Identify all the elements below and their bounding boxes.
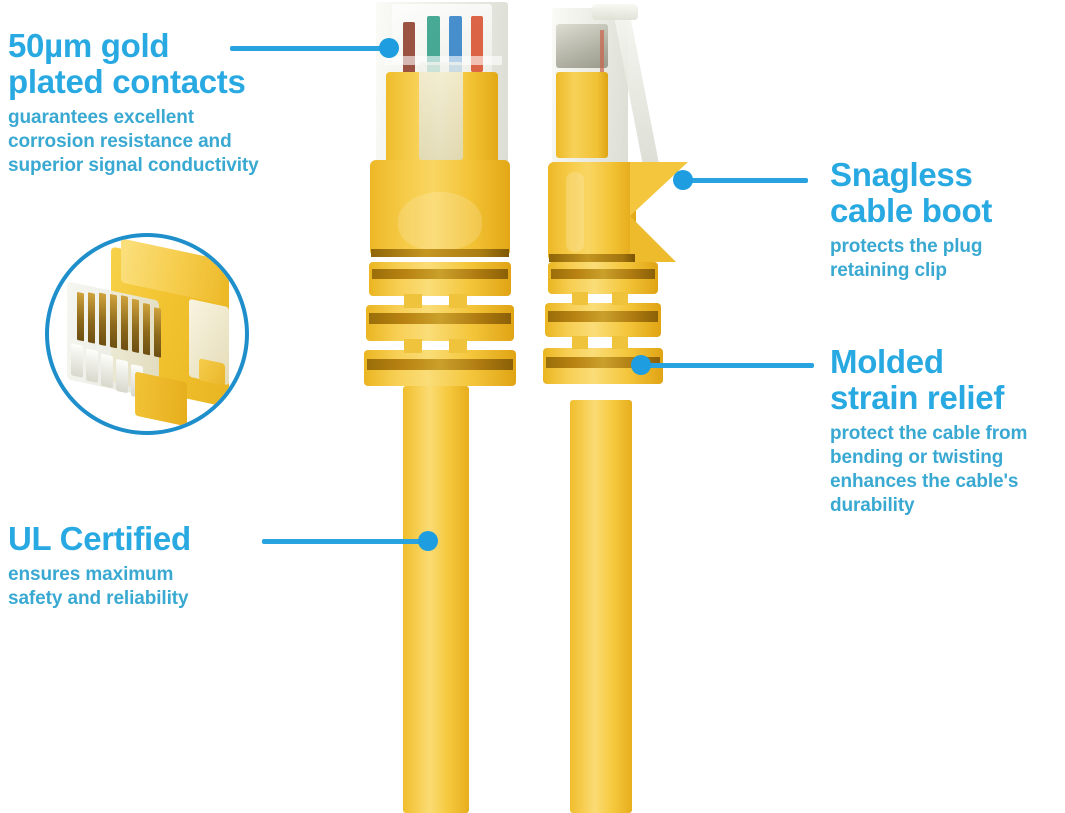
leader-line-snagless-boot bbox=[684, 178, 808, 183]
left-boot-emboss bbox=[398, 192, 482, 250]
right-relief-nub-d bbox=[612, 336, 628, 349]
left-strain-relief-groove-1 bbox=[372, 269, 508, 279]
callout-body-molded-strain-relief: protect the cable from bending or twisti… bbox=[830, 422, 1065, 518]
right-strain-relief-groove-1 bbox=[551, 269, 655, 279]
right-strain-relief-groove-2 bbox=[548, 311, 658, 322]
leader-dot-strain-relief bbox=[631, 355, 651, 375]
left-latch-window bbox=[419, 62, 463, 160]
callout-molded-strain-relief: Molded strain relief protect the cable f… bbox=[830, 344, 1065, 518]
left-boot-base-band bbox=[371, 249, 509, 257]
right-cable-jacket bbox=[570, 400, 632, 813]
right-relief-nub-a bbox=[572, 292, 588, 305]
left-strain-relief-groove-3 bbox=[367, 359, 513, 370]
callout-title-ul-certified: UL Certified bbox=[8, 521, 308, 557]
left-relief-nub-d bbox=[449, 339, 467, 353]
leader-dot-ul-certified bbox=[418, 531, 438, 551]
callout-snagless-cable-boot: Snagless cable boot protects the plug re… bbox=[830, 157, 1065, 283]
left-strain-relief-groove-2 bbox=[369, 313, 511, 324]
rj45-closeup-inset bbox=[45, 233, 249, 435]
rj45-closeup-image bbox=[49, 237, 245, 431]
snagless-boot-highlight bbox=[566, 172, 584, 252]
leader-line-strain-relief bbox=[642, 363, 814, 368]
left-relief-nub-c bbox=[404, 339, 422, 353]
callout-ul-certified: UL Certified ensures maximum safety and … bbox=[8, 521, 308, 611]
callout-gold-plated-contacts: 50µm gold plated contacts guarantees exc… bbox=[8, 28, 338, 178]
right-relief-nub-c bbox=[572, 336, 588, 349]
callout-body-gold-plated-contacts: guarantees excellent corrosion resistanc… bbox=[8, 106, 338, 178]
snagless-boot-wedge-lower bbox=[630, 216, 676, 262]
leader-dot-gold-contacts bbox=[379, 38, 399, 58]
left-cable-jacket bbox=[403, 386, 469, 813]
callout-title-snagless-cable-boot: Snagless cable boot bbox=[830, 157, 1065, 229]
infographic-canvas: 50µm gold plated contacts guarantees exc… bbox=[0, 0, 1065, 813]
left-strain-relief-ring-1 bbox=[369, 262, 511, 296]
callout-body-ul-certified: ensures maximum safety and reliability bbox=[8, 563, 308, 611]
left-relief-nub-a bbox=[404, 294, 422, 308]
left-relief-nub-b bbox=[449, 294, 467, 308]
callout-body-snagless-cable-boot: protects the plug retaining clip bbox=[830, 235, 1065, 283]
callout-title-gold-plated-contacts: 50µm gold plated contacts bbox=[8, 28, 338, 100]
wire-brown bbox=[403, 22, 415, 74]
snagless-boot-body bbox=[548, 162, 636, 260]
right-boot-base-band bbox=[549, 254, 635, 262]
right-plug-wire-stripe bbox=[600, 30, 604, 78]
right-plug-inner-boot bbox=[556, 72, 608, 158]
right-relief-nub-b bbox=[612, 292, 628, 305]
leader-dot-snagless-boot bbox=[673, 170, 693, 190]
callout-title-molded-strain-relief: Molded strain relief bbox=[830, 344, 1065, 416]
retaining-clip-top bbox=[592, 4, 638, 20]
